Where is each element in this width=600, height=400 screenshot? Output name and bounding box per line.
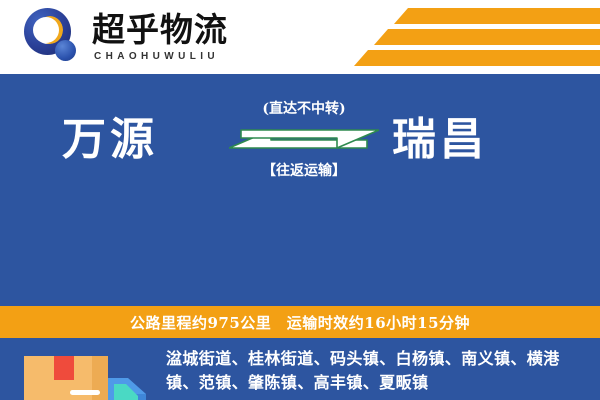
route-info-text: 公路里程约975公里 运输时效约16小时15分钟	[130, 312, 470, 333]
logistics-route-banner: 超乎物流 CHAOHUWULIU 万源 (直达不中转) 【往返运输】 瑞昌	[0, 0, 600, 400]
route-middle-block: (直达不中转) 【往返运输】	[218, 102, 390, 178]
destination-city: 瑞昌	[392, 118, 488, 162]
banner-header: 超乎物流 CHAOHUWULIU	[0, 0, 600, 74]
orange-speed-stripes-icon	[350, 8, 600, 66]
company-name-cn: 超乎物流	[92, 13, 228, 46]
delivery-truck-icon	[18, 350, 154, 400]
round-trip-note: 【往返运输】	[218, 164, 390, 178]
bidirectional-arrow-icon	[229, 122, 379, 156]
company-name-en: CHAOHUWULIU	[94, 51, 228, 62]
company-name-block: 超乎物流 CHAOHUWULIU	[92, 13, 228, 62]
banner-body: 万源 (直达不中转) 【往返运输】 瑞昌 公路里程约975公里 运输时效约16小…	[0, 74, 600, 400]
coverage-areas-text: 湓城街道、桂林街道、码头镇、白杨镇、南义镇、横港镇、范镇、肇陈镇、高丰镇、夏畈镇	[166, 347, 586, 395]
route-section: 万源 (直达不中转) 【往返运输】 瑞昌	[0, 74, 600, 232]
route-info-bar: 公路里程约975公里 运输时效约16小时15分钟	[0, 306, 600, 338]
company-logo: 超乎物流 CHAOHUWULIU	[22, 7, 228, 67]
chaohu-circle-logo-icon	[22, 7, 82, 67]
logo-dot	[55, 40, 76, 61]
origin-city: 万源	[62, 118, 158, 162]
direct-route-note: (直达不中转)	[218, 102, 390, 116]
logo-crescent-cut	[33, 17, 59, 43]
coverage-section: 湓城街道、桂林街道、码头镇、白杨镇、南义镇、横港镇、范镇、肇陈镇、高丰镇、夏畈镇	[0, 338, 600, 400]
